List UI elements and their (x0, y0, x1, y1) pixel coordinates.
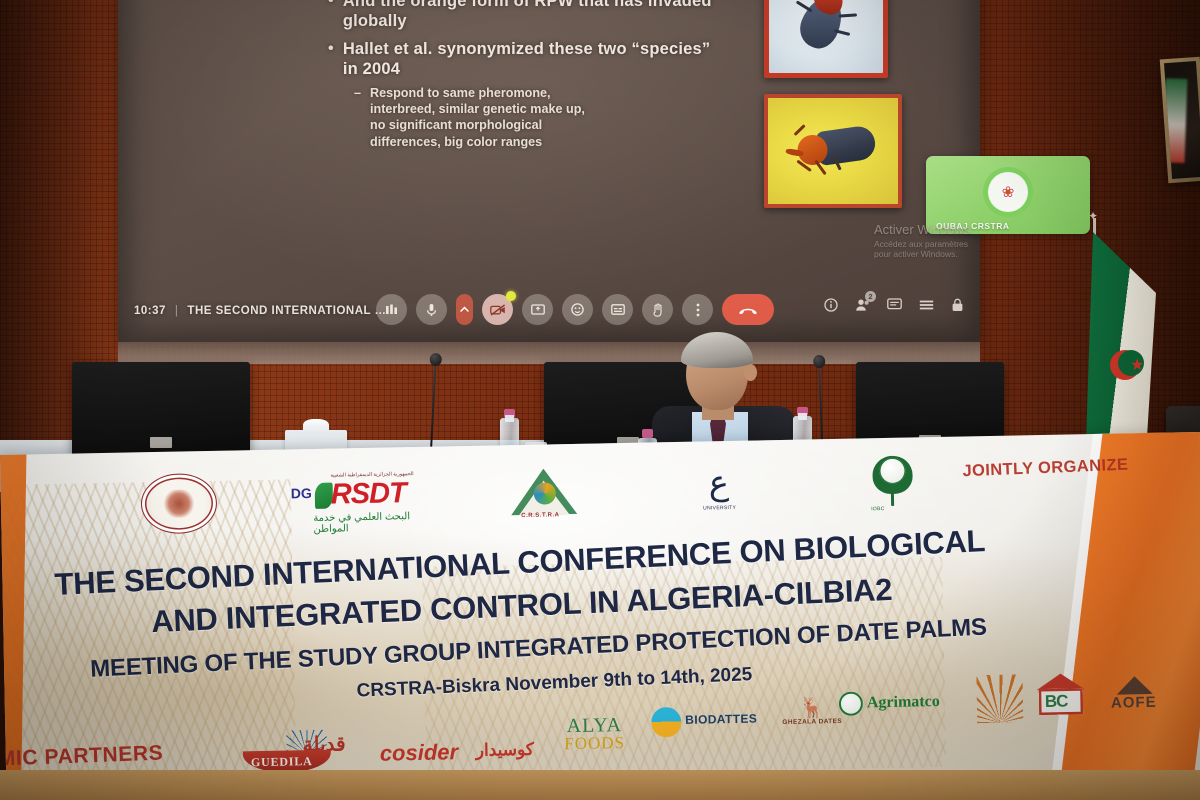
raise-hand-icon[interactable] (642, 294, 673, 325)
people-count-badge: 2 (865, 291, 876, 302)
bc-brand: BC (1045, 692, 1068, 712)
slide-content: • the red stripe form – Rhynchophorus vu… (328, 0, 728, 154)
slide-bullet: • And the orange form of RPW that has in… (328, 0, 728, 31)
captions-icon[interactable] (602, 294, 633, 325)
conference-hall-photo: ✦ ★ • the red stripe form – Rhynchophoru… (0, 0, 1200, 800)
palm-logo (976, 674, 1023, 723)
meeting-time: 10:37 (134, 305, 166, 317)
red-palm-weevil-orange-form-image (764, 94, 902, 208)
avatar: ❀ (988, 172, 1028, 212)
slide-subbullet-text: Respond to same pheromone, interbreed, s… (370, 85, 600, 150)
alya-foods-logo: ALYA FOODS (551, 714, 638, 760)
activities-icon[interactable] (919, 299, 934, 311)
toolbar-separator: | (175, 305, 179, 317)
chat-icon[interactable] (887, 298, 902, 312)
presentation-icon[interactable] (376, 294, 407, 325)
speaker-hair (681, 332, 753, 368)
agrimatco-logo: Agrimatco (839, 689, 970, 721)
star-icon: ★ (1130, 358, 1144, 374)
meeting-title: THE SECOND INTERNATIONAL … (187, 305, 386, 317)
bullet-dot-icon: • (328, 0, 334, 31)
agrimatco-brand: Agrimatco (867, 693, 940, 712)
crstra-caption: C.R.S.T.R.A (521, 512, 559, 519)
monitor-left (72, 362, 250, 464)
chevron-up-icon[interactable] (456, 294, 473, 325)
microphone-icon[interactable] (416, 294, 447, 325)
emoji-icon[interactable] (562, 294, 593, 325)
rsdt-arabic: البحث العلمي في خدمة المواطن (313, 511, 431, 535)
iobc-caption: IOBC (871, 506, 885, 512)
rsdt-brand: RSDT (331, 477, 407, 511)
aofe-logo: AOFE (1102, 676, 1173, 721)
info-icon[interactable] (824, 298, 838, 312)
meeting-toolbar: 10:37 | THE SECOND INTERNATIONAL … (118, 288, 980, 334)
rsdt-logo: الجمهورية الجزائرية الديمقراطية الشعبية … (290, 473, 431, 530)
activation-title: Activer Windows (874, 222, 980, 237)
end-call-icon[interactable] (722, 294, 774, 325)
alya-brand-line2: FOODS (551, 733, 637, 755)
aofe-brand: AOFE (1111, 694, 1157, 712)
cosider-arabic: كوسيدار (476, 740, 534, 761)
floor (0, 770, 1200, 800)
conference-banner: الجمهورية الجزائرية الديمقراطية الشعبية … (0, 432, 1200, 800)
ghezala-brand: GHEZALA DATES (777, 718, 847, 726)
activation-subtitle: Accédez aux paramètres pour activer Wind… (874, 239, 980, 259)
camera-off-icon[interactable] (482, 294, 513, 325)
more-options-icon[interactable] (682, 294, 713, 325)
lock-icon[interactable] (951, 298, 964, 312)
slide-bullet-text: Hallet et al. synonymized these two “spe… (343, 39, 728, 79)
slide-bullet: • Hallet et al. synonymized these two “s… (328, 39, 728, 79)
bc-logo: BC (1034, 673, 1089, 720)
red-palm-weevil-red-stripe-image (764, 0, 888, 78)
biodattes-logo: BIODATTES (651, 705, 768, 741)
screen-bottom-edge (118, 342, 980, 364)
cosider-brand: cosider (380, 739, 459, 766)
cosider-logo: cosider كوسيدار (380, 738, 541, 771)
biodattes-brand: BIODATTES (685, 712, 757, 727)
dash-icon: – (354, 85, 361, 150)
slide-subbullet: – Respond to same pheromone, interbreed,… (354, 85, 728, 150)
crstra-logo: C.R.S.T.R.A (510, 466, 579, 525)
guedila-brand: GUEDILA (251, 754, 313, 770)
slide-bullet-text: And the orange form of RPW that has inva… (343, 0, 728, 31)
bullet-dot-icon: • (328, 39, 334, 79)
windows-activation-watermark: Activer Windows Accédez aux paramètres p… (874, 222, 980, 259)
iobc-logo: IOBC (866, 453, 923, 514)
notification-badge (506, 291, 516, 301)
rsdt-prefix: DG (291, 485, 312, 501)
university-logo: ع UNIVERSITY (700, 458, 763, 517)
people-icon[interactable]: 2 (855, 298, 870, 312)
ghezala-dates-logo: 🦌 GHEZALA DATES (777, 698, 848, 739)
share-screen-icon[interactable] (522, 294, 553, 325)
